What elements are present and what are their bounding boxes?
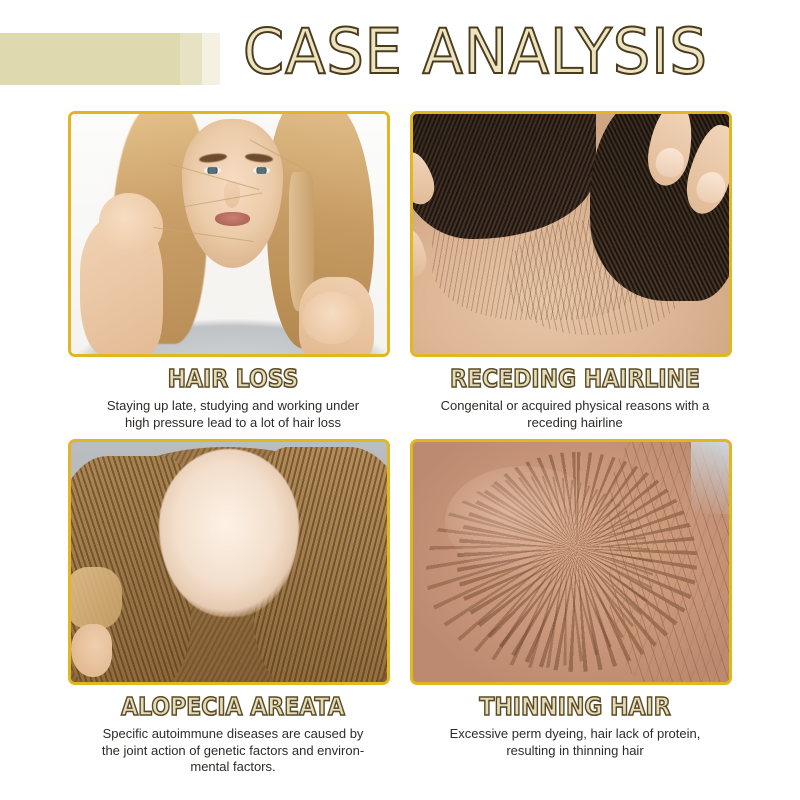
photo-receding-hairline [413,114,729,354]
case-description-line: Specific autoimmune diseases are caused … [68,726,398,743]
page-header: CASE ANALYSIS [0,0,800,105]
case-heading: ALOPECIA AREATA [88,693,378,721]
case-card-thinning-hair: THINNING HAIR Excessive perm dyeing, hai… [410,439,740,759]
case-heading: THINNING HAIR [430,693,720,721]
case-description-line: Staying up late, studying and working un… [68,398,398,415]
page-title: CASE ANALYSIS [243,17,708,87]
case-card-alopecia-areata: ALOPECIA AREATA Specific autoimmune dise… [68,439,398,776]
photo-hair-loss [71,114,387,354]
case-photo-frame [68,111,390,357]
case-description-line: resulting in thinning hair [410,743,740,760]
case-description: Congenital or acquired physical reasons … [410,398,740,431]
case-description-line: high pressure lead to a lot of hair loss [68,415,398,432]
case-card-receding-hairline: RECEDING HAIRLINE Congenital or acquired… [410,111,740,431]
header-accent-bar [0,33,180,85]
case-heading: RECEDING HAIRLINE [430,365,720,393]
photo-thinning-hair [413,442,729,682]
case-card-hair-loss: HAIR LOSS Staying up late, studying and … [68,111,398,431]
case-description-line: Congenital or acquired physical reasons … [410,398,740,415]
header-accent-bar-fade-2 [202,33,220,85]
case-description-line: the joint action of genetic factors and … [68,743,398,760]
case-description-line: mental factors. [68,759,398,776]
case-description-line: receding hairline [410,415,740,432]
case-description: Specific autoimmune diseases are caused … [68,726,398,776]
case-heading: HAIR LOSS [88,365,378,393]
header-accent-bar-fade-1 [180,33,202,85]
case-photo-frame [410,439,732,685]
case-description: Staying up late, studying and working un… [68,398,398,431]
case-description: Excessive perm dyeing, hair lack of prot… [410,726,740,759]
photo-alopecia-areata [71,442,387,682]
case-photo-frame [68,439,390,685]
case-photo-frame [410,111,732,357]
case-description-line: Excessive perm dyeing, hair lack of prot… [410,726,740,743]
